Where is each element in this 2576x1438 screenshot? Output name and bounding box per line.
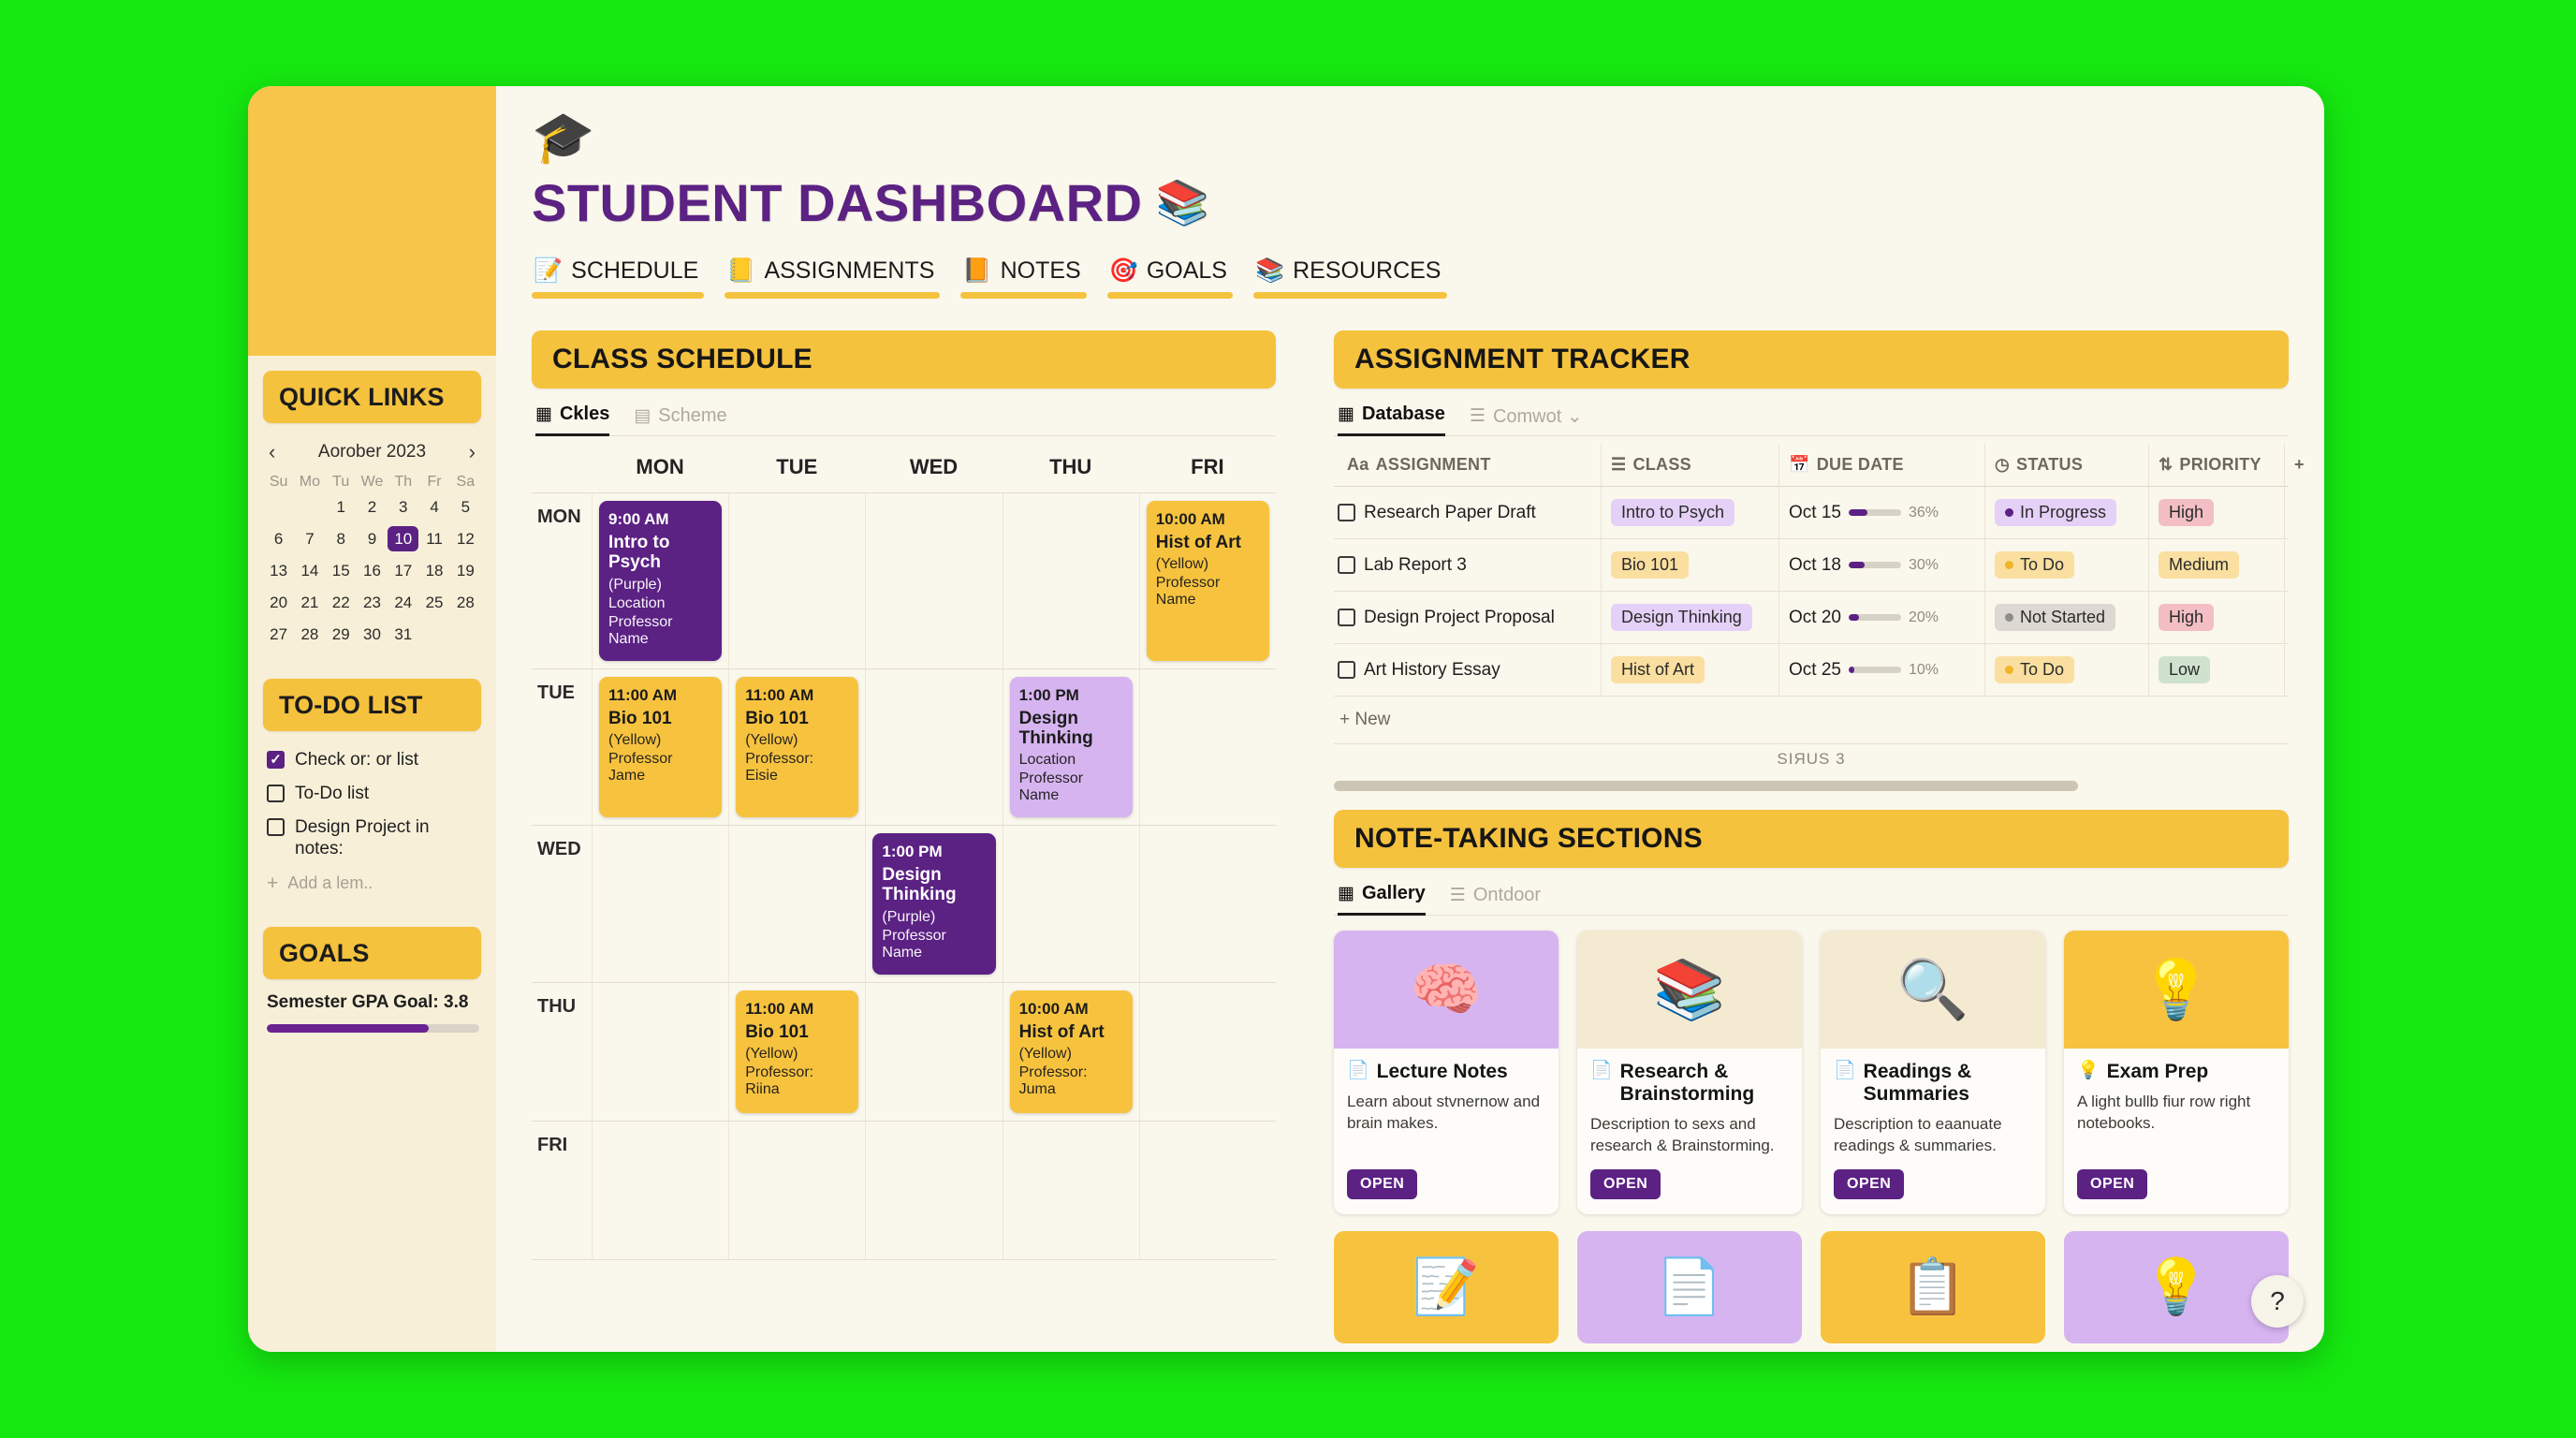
note-card-partial[interactable]: 📝 [1334,1231,1559,1343]
assignment-name-cell[interactable]: Lab Report 3 [1334,540,1601,591]
assignment-column-header[interactable]: 📅DUE DATE [1778,444,1984,486]
nav-tab-label: NOTES [1001,257,1081,285]
event-professor: Professor Name [608,614,712,648]
note-card-title-text: Readings & Summaries [1864,1061,2032,1106]
row-checkbox[interactable] [1338,504,1355,521]
calendar-day[interactable]: 1 [326,494,357,520]
calendar-day[interactable]: 15 [326,558,357,583]
nav-tab-underline [1107,292,1233,299]
assignment-tracker-header: ASSIGNMENT TRACKER [1334,330,2289,389]
event-color-note: (Yellow) [608,732,712,749]
schedule-event[interactable]: 1:00 PMDesign Thinking(Purple)Professor … [872,833,995,975]
note-card-thumbnail: 🔍 [1821,931,2045,1049]
goals-icon: 🎯 [1109,257,1138,285]
schedule-event[interactable]: 11:00 AMBio 101(Yellow)Professor: Riina [736,990,858,1113]
quick-links-title: QUICK LINKS [279,383,445,412]
assignment-row[interactable]: Research Paper DraftIntro to PsychOct 15… [1334,487,2289,539]
nav-tab-notes[interactable]: 📙NOTES [960,257,1086,308]
open-button[interactable]: OPEN [1347,1169,1417,1199]
tab-icon: ▦ [535,404,552,425]
assignment-name: Art History Essay [1364,660,1500,681]
nav-tab-underline [724,292,940,299]
schedule-cell[interactable] [1003,1122,1139,1259]
event-title: Design Thinking [1019,709,1123,749]
event-title: Design Thinking [882,865,986,905]
progress-percent: 20% [1909,609,1939,626]
status-pill: To Do [1995,551,2074,579]
calendar-day[interactable]: 6 [263,526,294,551]
page-header: 🎓 STUDENT DASHBOARD 📚 📝SCHEDULE📒ASSIGNME… [496,86,2324,308]
todo-add-row[interactable]: +Add a lem.. [267,866,479,893]
open-button[interactable]: OPEN [1590,1169,1661,1199]
assignment-column-header[interactable]: + [2284,444,2324,486]
schedule-view-tabs[interactable]: ▦Ckles▤Scheme [532,404,1276,436]
assignment-row[interactable]: Design Project ProposalDesign ThinkingOc… [1334,592,2289,644]
progress-fill [1849,667,1854,673]
event-professor: Professor Jame [608,751,712,785]
quick-links-header: QUICK LINKS [263,371,481,423]
calendar-day[interactable]: 30 [357,622,388,647]
assignment-extra-cell [2284,488,2324,538]
schedule-day-headers: MONTUEWEDTHUFRI [532,446,1276,492]
class-pill: Hist of Art [1611,656,1705,683]
assignment-status-cell[interactable]: Not Started [1984,592,2148,643]
main-content: 🎓 STUDENT DASHBOARD 📚 📝SCHEDULE📒ASSIGNME… [496,86,2324,1352]
assignment-table: AaASSIGNMENT☰CLASS📅DUE DATE◷STATUS⇅PRIOR… [1334,444,2289,744]
calendar-day[interactable]: 12 [450,526,481,551]
calendar-day[interactable]: 10 [388,526,418,551]
progress-track [1849,614,1901,621]
nav-tab-inner: 📝SCHEDULE [532,257,704,292]
todo-list: Check or: or listTo-Do listDesign Projec… [248,731,496,893]
column-type-icon: 📅 [1789,455,1810,475]
document-icon: 📄 [1834,1061,1856,1081]
assignment-horizontal-scrollbar[interactable] [1334,781,2078,791]
assignment-table-header: AaASSIGNMENT☰CLASS📅DUE DATE◷STATUS⇅PRIOR… [1334,444,2289,487]
assignment-row[interactable]: Lab Report 3Bio 101Oct 1830%To DoMedium [1334,539,2289,592]
assignment-priority-cell[interactable]: High [2148,487,2284,538]
assignment-priority-cell[interactable]: High [2148,592,2284,643]
note-card[interactable]: 📚📄Research & BrainstormingDescription to… [1577,931,1802,1214]
calendar-nav: ‹ Aorober 2023 › [263,438,481,474]
assignment-tab-comwot[interactable]: ☰Comwot ⌄ [1470,404,1583,436]
calendar-day[interactable]: 27 [263,622,294,647]
calendar-dow: Th [388,474,418,494]
note-card-title-text: Lecture Notes [1377,1061,1508,1083]
due-wrapper: Oct 1536% [1789,503,1939,523]
event-time: 10:00 AM [1156,510,1260,529]
event-color-note: (Yellow) [745,1046,849,1063]
tab-label: Gallery [1362,883,1426,904]
nav-tab-inner: 📙NOTES [960,257,1086,292]
note-card-thumbnail: 💡 [2064,931,2289,1049]
calendar-day[interactable]: 23 [357,590,388,615]
assignment-new-row[interactable]: + New [1334,697,2289,744]
nav-tab-resources[interactable]: 📚RESOURCES [1253,257,1447,308]
nav-tab-label: GOALS [1147,257,1227,285]
calendar-day[interactable]: 5 [450,494,481,520]
tab-icon: ▤ [634,405,651,427]
note-card-title-text: Exam Prep [2107,1061,2209,1083]
note-card-title: 💡Exam Prep [2077,1061,2276,1083]
tab-icon: ☰ [1470,405,1486,427]
calendar-day[interactable]: 11 [418,526,449,551]
due-date: Oct 18 [1789,555,1841,576]
event-professor: Professor Name [1019,770,1123,804]
schedule-event[interactable]: 11:00 AMBio 101(Yellow)Professor Jame [599,677,722,818]
event-title: Bio 101 [745,1022,849,1042]
nav-tab-underline [532,292,704,299]
assignment-footer-label: SIЯUS 3 [1334,744,2289,769]
due-wrapper: Oct 1830% [1789,555,1939,576]
calendar-widget[interactable]: ‹ Aorober 2023 › SuMoTuWeThFrSa 12345678… [248,423,496,647]
note-card-title: 📄Research & Brainstorming [1590,1061,1789,1106]
nav-tab-underline [1253,292,1447,299]
assignment-status-cell[interactable]: To Do [1984,644,2148,696]
nav-tab-inner: 🎯GOALS [1107,257,1233,292]
notes-tab-ontdoor[interactable]: ☰Ontdoor [1450,883,1541,916]
schedule-icon: 📝 [534,257,563,285]
note-card-description: Description to sexs and research & Brain… [1590,1114,1789,1156]
assignment-column-header[interactable]: ◷STATUS [1984,444,2148,486]
row-checkbox[interactable] [1338,556,1355,574]
goal-text: Semester GPA Goal: 3.8 [267,992,479,1013]
event-color-note: (Yellow) [745,732,849,749]
event-professor: Professor: Eisie [745,751,849,785]
schedule-row-label: TUE [532,669,592,826]
schedule-day-header: FRI [1139,446,1276,492]
progress-track [1849,562,1901,568]
event-location: Location [608,595,712,612]
schedule-cell[interactable]: 1:00 PMDesign Thinking(Purple)Professor … [865,826,1002,982]
calendar-dow: Sa [450,474,481,494]
tab-icon: ▦ [1338,404,1354,425]
schedule-tab-scheme[interactable]: ▤Scheme [634,404,726,436]
schedule-cell[interactable]: 9:00 AMIntro to Psych(Purple)LocationPro… [592,493,728,668]
calendar-day[interactable]: 22 [326,590,357,615]
todo-checkbox[interactable] [267,818,285,836]
column-label: ASSIGNMENT [1376,455,1491,475]
status-label: To Do [2020,555,2064,575]
todo-item-label: Check or: or list [295,749,418,771]
schedule-corner [532,446,592,492]
calendar-day[interactable]: 29 [326,622,357,647]
note-card-thumbnail: 📚 [1577,931,1802,1049]
notes-gallery-row2[interactable]: 📝📄📋💡 [1334,1231,2289,1343]
todo-header: TO-DO LIST [263,679,481,731]
note-card[interactable]: 💡💡Exam PrepA light bullb fiur row right … [2064,931,2289,1214]
note-card-body: 📄Readings & SummariesDescription to eaan… [1821,1049,2045,1214]
assignment-row[interactable]: Art History EssayHist of ArtOct 2510%To … [1334,644,2289,697]
schedule-cell[interactable]: 10:00 AMHist of Art(Yellow)Professor Nam… [1139,493,1276,668]
note-card-partial[interactable]: 📋 [1821,1231,2045,1343]
schedule-event[interactable]: 9:00 AMIntro to Psych(Purple)LocationPro… [599,501,722,661]
tab-label: Ontdoor [1473,885,1541,906]
calendar-day[interactable]: 9 [357,526,388,551]
page-title-text: STUDENT DASHBOARD [532,172,1143,233]
content-columns: CLASS SCHEDULE ▦Ckles▤Scheme MONTUEWEDTH… [496,308,2324,1343]
note-card-partial[interactable]: 📄 [1577,1231,1802,1343]
calendar-day[interactable]: 19 [450,558,481,583]
schedule-row: WED1:00 PMDesign Thinking(Purple)Profess… [532,826,1276,983]
status-dot-icon [2005,561,2013,569]
assignment-name-cell[interactable]: Research Paper Draft [1334,488,1601,538]
calendar-day[interactable]: 25 [418,590,449,615]
notes-gallery[interactable]: 🧠📄Lecture NotesLearn about stvnernow and… [1334,931,2289,1214]
top-navigation[interactable]: 📝SCHEDULE📒ASSIGNMENTS📙NOTES🎯GOALS📚RESOUR… [532,257,2324,308]
note-card-body: 📄Research & BrainstormingDescription to … [1577,1049,1802,1214]
todo-item-label: To-Do list [295,783,369,805]
status-label: Not Started [2020,608,2105,627]
calendar-dow: Tu [326,474,357,494]
calendar-dow: Fr [418,474,449,494]
event-time: 9:00 AM [608,510,712,529]
schedule-cell[interactable]: 1:00 PMDesign ThinkingLocationProfessor … [1003,669,1139,826]
calendar-day[interactable]: 24 [388,590,418,615]
notes-tab-gallery[interactable]: ▦Gallery [1338,883,1426,916]
schedule-cell[interactable] [1139,983,1276,1121]
priority-pill: High [2159,604,2214,631]
assignment-extra-cell [2284,540,2324,591]
schedule-cell[interactable] [592,826,728,982]
calendar-day[interactable]: 2 [357,494,388,520]
event-professor: Professor: Riina [745,1064,849,1098]
calendar-day[interactable]: 20 [263,590,294,615]
event-time: 1:00 PM [882,843,986,861]
nav-tab-underline [960,292,1086,299]
status-label: To Do [2020,660,2064,680]
document-icon: 💡 [2077,1061,2100,1081]
nav-tab-label: SCHEDULE [571,257,698,285]
assignment-class-cell[interactable]: Bio 101 [1601,539,1778,591]
goals-header: GOALS [263,927,481,979]
priority-pill: Low [2159,656,2210,683]
schedule-cell[interactable] [865,1122,1002,1259]
calendar-prev-icon[interactable]: ‹ [269,442,275,462]
event-color-note: (Purple) [882,909,986,926]
due-date: Oct 15 [1789,503,1841,523]
assignment-priority-cell[interactable]: Low [2148,644,2284,696]
assignment-table-footer: SIЯUS 3 [1334,744,2289,797]
calendar-day[interactable]: 18 [418,558,449,583]
goals-block: Semester GPA Goal: 3.8 [248,979,496,1033]
schedule-tab-ckles[interactable]: ▦Ckles [535,404,609,436]
assignment-class-cell[interactable]: Intro to Psych [1601,487,1778,538]
calendar-dow: We [357,474,388,494]
goals-title: GOALS [279,939,370,968]
schedule-cell[interactable] [1139,669,1276,826]
assignment-extra-cell [2284,593,2324,643]
column-type-icon: ⇅ [2159,455,2173,475]
nav-tab-inner: 📒ASSIGNMENTS [724,257,940,292]
schedule-event[interactable]: 1:00 PMDesign ThinkingLocationProfessor … [1010,677,1133,818]
books-icon: 📚 [1156,177,1210,228]
schedule-cell[interactable] [1003,493,1139,668]
schedule-row-label: FRI [532,1122,592,1259]
calendar-blank [263,494,294,520]
schedule-cell[interactable]: 11:00 AMBio 101(Yellow)Professor: Eisie [728,669,865,826]
assignment-column-header[interactable]: ⇅PRIORITY [2148,444,2284,486]
nav-tab-schedule[interactable]: 📝SCHEDULE [532,257,704,308]
due-date: Oct 25 [1789,660,1841,681]
todo-item[interactable]: To-Do list [267,777,479,811]
event-location: Location [1019,752,1123,769]
due-wrapper: Oct 2510% [1789,660,1939,681]
schedule-cell[interactable] [728,493,865,668]
note-card-description: Description to eaanuate readings & summa… [1834,1114,2032,1156]
assignment-name: Lab Report 3 [1364,555,1467,576]
calendar-day[interactable]: 3 [388,494,418,520]
todo-add-label: Add a lem.. [287,873,373,893]
nav-tab-assignments[interactable]: 📒ASSIGNMENTS [724,257,940,308]
progress-track [1849,667,1901,673]
schedule-grid: MONTUEWEDTHUFRI MON9:00 AMIntro to Psych… [532,446,1276,1260]
assignment-view-tabs[interactable]: ▦Database☰Comwot ⌄ [1334,404,2289,436]
schedule-event[interactable]: 10:00 AMHist of Art(Yellow)Professor Nam… [1147,501,1269,661]
assignment-class-cell[interactable]: Hist of Art [1601,644,1778,696]
todo-item[interactable]: Design Project in notes: [267,811,479,867]
assignment-due-cell[interactable]: Oct 2020% [1778,593,1984,643]
nav-tab-goals[interactable]: 🎯GOALS [1107,257,1233,308]
assignment-class-cell[interactable]: Design Thinking [1601,592,1778,643]
assignment-due-cell[interactable]: Oct 1536% [1778,488,1984,538]
schedule-cell[interactable] [592,983,728,1121]
calendar-day[interactable]: 13 [263,558,294,583]
schedule-cell[interactable] [865,493,1002,668]
assignment-column-header[interactable]: AaASSIGNMENT [1334,444,1601,486]
progress-percent: 30% [1909,557,1939,574]
schedule-cell[interactable] [728,1122,865,1259]
schedule-cell[interactable] [592,1122,728,1259]
assignment-column-header[interactable]: ☰CLASS [1601,444,1778,486]
schedule-row-label: THU [532,983,592,1121]
calendar-day[interactable]: 17 [388,558,418,583]
open-button[interactable]: OPEN [2077,1169,2147,1199]
todo-item[interactable]: Check or: or list [267,743,479,777]
calendar-day[interactable]: 7 [294,526,325,551]
assignment-status-cell[interactable]: To Do [1984,539,2148,591]
schedule-body[interactable]: MON9:00 AMIntro to Psych(Purple)Location… [532,492,1276,1260]
class-pill: Bio 101 [1611,551,1689,579]
schedule-cell[interactable] [865,669,1002,826]
goal-progress-track [267,1024,479,1033]
column-type-icon: + [2294,455,2305,475]
schedule-day-header: THU [1003,446,1139,492]
document-icon: 📄 [1590,1061,1613,1081]
calendar-day[interactable]: 8 [326,526,357,551]
schedule-cell[interactable] [1139,1122,1276,1259]
schedule-cell[interactable] [865,983,1002,1121]
document-icon: 📄 [1347,1061,1369,1081]
assignment-table-body[interactable]: Research Paper DraftIntro to PsychOct 15… [1334,487,2289,697]
schedule-row: MON9:00 AMIntro to Psych(Purple)Location… [532,493,1276,669]
schedule-cell[interactable]: 11:00 AMBio 101(Yellow)Professor: Riina [728,983,865,1121]
column-type-icon: Aa [1347,455,1369,475]
notes-view-tabs[interactable]: ▦Gallery☰Ontdoor [1334,883,2289,916]
schedule-row: THU11:00 AMBio 101(Yellow)Professor: Rii… [532,983,1276,1122]
row-checkbox[interactable] [1338,661,1355,679]
schedule-event[interactable]: 10:00 AMHist of Art(Yellow)Professor: Ju… [1010,990,1133,1113]
calendar-day[interactable]: 28 [450,590,481,615]
todo-item-label: Design Project in notes: [295,816,479,861]
assignment-name-cell[interactable]: Art History Essay [1334,645,1601,696]
status-label: In Progress [2020,503,2106,522]
calendar-day[interactable]: 16 [357,558,388,583]
column-type-icon: ◷ [1995,455,2010,475]
schedule-cell[interactable] [728,826,865,982]
schedule-cell[interactable] [1003,826,1139,982]
due-wrapper: Oct 2020% [1789,608,1939,628]
note-card-thumbnail: 🧠 [1334,931,1559,1049]
nav-tab-label: RESOURCES [1293,257,1441,285]
calendar-month-label: Aorober 2023 [318,442,426,462]
tab-icon: ☰ [1450,885,1466,906]
assignment-status-cell[interactable]: In Progress [1984,487,2148,538]
todo-checkbox[interactable] [267,751,285,769]
column-label: STATUS [2016,455,2083,475]
calendar-day[interactable]: 21 [294,590,325,615]
assignments-icon: 📒 [726,257,755,285]
calendar-next-icon[interactable]: › [469,442,476,462]
progress-percent: 10% [1909,662,1939,679]
sidebar-banner [248,86,496,356]
calendar-day[interactable]: 28 [294,622,325,647]
tab-label: Ckles [560,404,609,425]
schedule-cell[interactable]: 10:00 AMHist of Art(Yellow)Professor: Ju… [1003,983,1139,1121]
note-card[interactable]: 🔍📄Readings & SummariesDescription to eaa… [1821,931,2045,1214]
calendar-days-grid[interactable]: 1234567891011121314151617181920212223242… [263,494,481,647]
schedule-day-header: MON [592,446,728,492]
row-checkbox[interactable] [1338,609,1355,626]
assignment-name-cell[interactable]: Design Project Proposal [1334,593,1601,643]
schedule-cell[interactable]: 11:00 AMBio 101(Yellow)Professor Jame [592,669,728,826]
assignment-tracker-title: ASSIGNMENT TRACKER [1354,344,1690,375]
priority-pill: Medium [2159,551,2239,579]
schedule-day-header: TUE [728,446,865,492]
note-card[interactable]: 🧠📄Lecture NotesLearn about stvnernow and… [1334,931,1559,1214]
event-time: 11:00 AM [608,686,712,705]
status-pill: Not Started [1995,604,2115,631]
open-button[interactable]: OPEN [1834,1169,1904,1199]
tab-label: Database [1362,404,1445,425]
schedule-event[interactable]: 11:00 AMBio 101(Yellow)Professor: Eisie [736,677,858,818]
calendar-day[interactable]: 31 [388,622,418,647]
assignment-due-cell[interactable]: Oct 2510% [1778,645,1984,696]
app-window: QUICK LINKS ‹ Aorober 2023 › SuMoTuWeThF… [248,86,2324,1352]
note-card-description: A light bullb fiur row right notebooks. [2077,1092,2276,1156]
priority-pill: High [2159,499,2214,526]
schedule-cell[interactable] [1139,826,1276,982]
calendar-day[interactable]: 14 [294,558,325,583]
calendar-dow: Mo [294,474,325,494]
event-title: Bio 101 [608,709,712,728]
goal-progress-fill [267,1024,429,1033]
nav-tab-inner: 📚RESOURCES [1253,257,1447,292]
assignment-tab-database[interactable]: ▦Database [1338,404,1445,436]
progress-track [1849,509,1901,516]
calendar-day[interactable]: 4 [418,494,449,520]
assignment-priority-cell[interactable]: Medium [2148,539,2284,591]
column-label: PRIORITY [2179,455,2261,475]
assignment-due-cell[interactable]: Oct 1830% [1778,540,1984,591]
sidebar: QUICK LINKS ‹ Aorober 2023 › SuMoTuWeThF… [248,86,496,1352]
todo-checkbox[interactable] [267,785,285,802]
help-button[interactable]: ? [2251,1275,2304,1328]
column-type-icon: ☰ [1611,455,1626,475]
plus-icon: + [267,873,278,893]
status-dot-icon [2005,666,2013,674]
tab-label: Comwot ⌄ [1493,404,1583,428]
